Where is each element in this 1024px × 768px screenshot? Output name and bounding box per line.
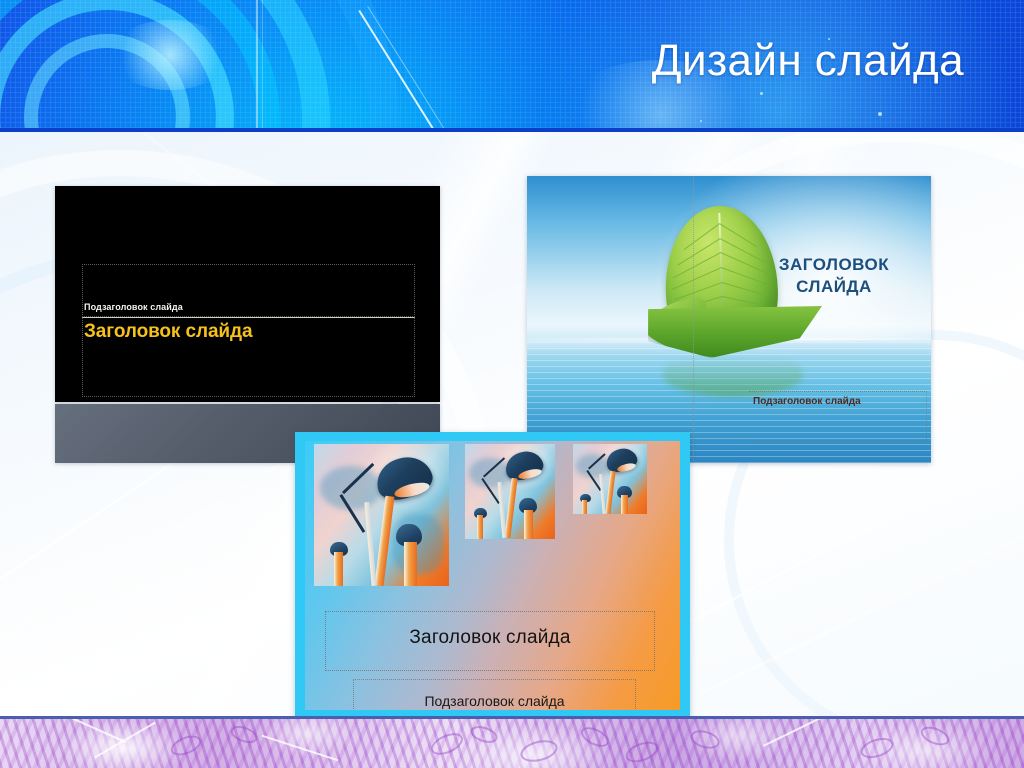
- leaf-title-line1: ЗАГОЛОВОК: [779, 255, 889, 274]
- lamp-post: [504, 478, 517, 538]
- background-streak: [701, 508, 1024, 695]
- lamp-post: [524, 510, 533, 539]
- lamp-post: [477, 515, 483, 539]
- banner-glow: [110, 20, 230, 90]
- slide-header-banner: Дизайн слайда: [0, 0, 1024, 132]
- page-title: Дизайн слайда: [652, 36, 964, 86]
- presentation-slide: Дизайн слайда Подзаголовок слайда Заголо…: [0, 0, 1024, 768]
- banner-ring-icon: [0, 0, 400, 132]
- black-slide-title: Заголовок слайда: [84, 321, 252, 343]
- footer-cell-icon: [428, 729, 466, 759]
- lamp-stick: [364, 502, 376, 586]
- thumbnail-leaf-slide[interactable]: ЗАГОЛОВОК СЛАЙДА Подзаголовок слайда: [527, 176, 931, 463]
- lamp-photo-small: [573, 444, 647, 514]
- leaf-vein: [673, 252, 721, 278]
- leaf-reflection: [663, 356, 803, 396]
- lamp-shadow: [469, 458, 511, 488]
- footer-cell-icon: [918, 723, 952, 749]
- banner-light-streak: [367, 6, 537, 132]
- footer-vein: [763, 716, 829, 747]
- leaf-slide-subtitle: Подзаголовок слайда: [753, 396, 861, 407]
- leaf-title-line2: СЛАЙДА: [796, 277, 872, 296]
- slide-footer-band: [0, 716, 1024, 768]
- leaf-vein: [719, 223, 757, 247]
- banner-ring-icon: [24, 34, 190, 132]
- placeholder-guide-line: [693, 176, 694, 463]
- lamp-post: [334, 552, 343, 586]
- leaf-hull: [637, 306, 822, 358]
- footer-vein: [43, 716, 126, 743]
- lamp-photo-large: [314, 444, 449, 586]
- banner-ring-icon: [0, 0, 330, 132]
- banner-light-streak: [256, 0, 258, 132]
- lamp-slide-canvas: Заголовок слайда Подзаголовок слайда: [305, 441, 680, 710]
- lamp-post: [621, 495, 628, 514]
- lamp-post: [404, 542, 417, 586]
- leaf-slide-title: ЗАГОЛОВОК СЛАЙДА: [749, 254, 919, 298]
- leaf-vein: [684, 223, 720, 250]
- footer-cell-icon: [858, 734, 896, 762]
- footer-vein: [262, 735, 339, 762]
- banner-light-streak: [262, 0, 263, 132]
- lamp-stick: [599, 474, 605, 514]
- thumbnail-lamp-slide[interactable]: Заголовок слайда Подзаголовок слайда: [295, 432, 690, 719]
- leaf-vein: [677, 238, 720, 266]
- black-slide-subtitle: Подзаголовок слайда: [84, 302, 183, 312]
- leaf-vein: [671, 267, 721, 290]
- banner-dot: [878, 112, 882, 116]
- banner-dot: [700, 120, 702, 122]
- leaf-vein: [722, 296, 763, 306]
- black-slide-canvas: Подзаголовок слайда Заголовок слайда: [55, 186, 440, 402]
- footer-cell-icon: [578, 723, 612, 751]
- lamp-photo-medium: [465, 444, 555, 539]
- banner-light-streak: [358, 10, 535, 132]
- footer-cell-icon: [468, 723, 499, 746]
- lamp-slide-subtitle: Подзаголовок слайда: [353, 693, 636, 709]
- lamp-stick: [498, 482, 507, 538]
- banner-dot: [760, 92, 763, 95]
- lamp-slide-title: Заголовок слайда: [325, 627, 655, 649]
- footer-vein: [94, 722, 156, 759]
- footer-cell-icon: [688, 727, 722, 752]
- footer-cell-icon: [168, 732, 204, 760]
- lamp-post: [582, 500, 587, 514]
- footer-cell-icon: [623, 738, 661, 767]
- lamp-post: [605, 471, 615, 514]
- banner-ring-icon: [0, 0, 280, 132]
- banner-ring-icon: [0, 0, 234, 132]
- footer-cell-icon: [518, 737, 560, 766]
- thumbnail-black-slide[interactable]: Подзаголовок слайда Заголовок слайда: [55, 186, 440, 463]
- lamp-shadow: [320, 466, 382, 510]
- footer-cell-icon: [228, 723, 259, 747]
